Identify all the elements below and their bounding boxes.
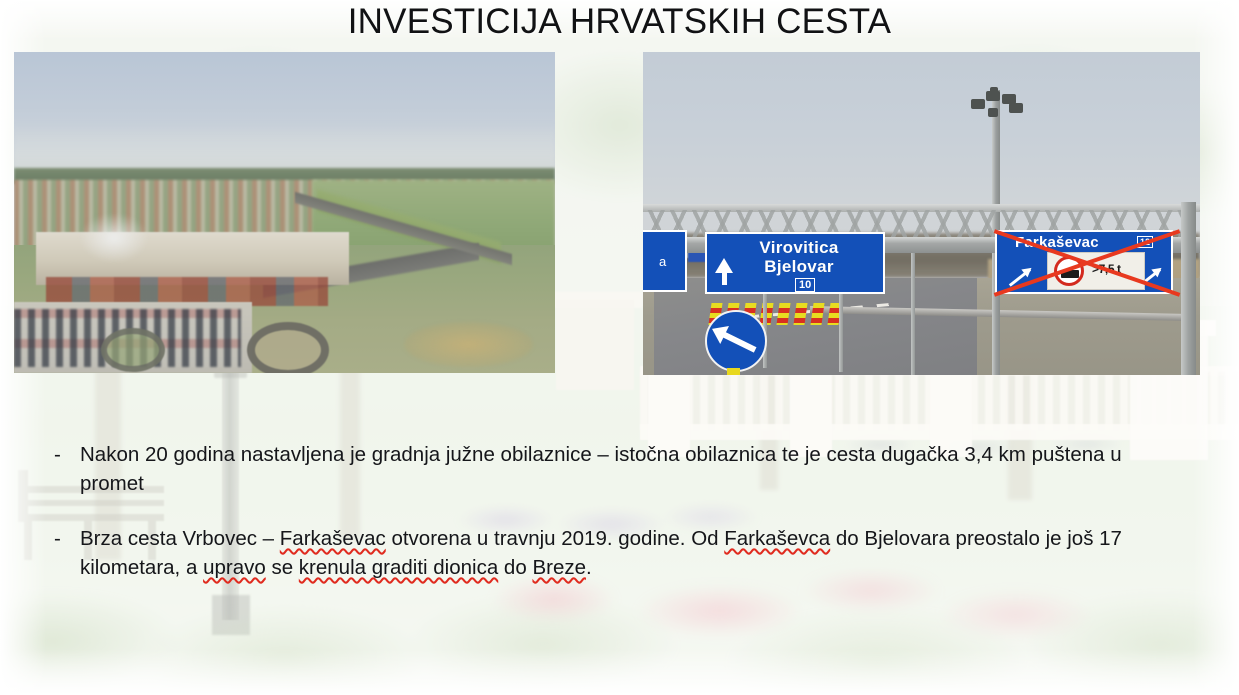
- photo-warehouse-roofs: [46, 277, 327, 306]
- up-arrow-stem-icon: [722, 271, 727, 285]
- slide-body-text: - Nakon 20 godina nastavljena je gradnja…: [42, 440, 1182, 608]
- spellcheck-word: krenula graditi dionica: [299, 556, 498, 579]
- bullet-marker: -: [42, 440, 80, 469]
- presentation-slide: INVESTICIJA HRVATSKIH CESTA: [0, 0, 1239, 695]
- spellcheck-word: Farkaševac: [280, 527, 386, 550]
- road-sign-virovitica-bjelovar: Virovitica Bjelovar 10: [705, 232, 885, 294]
- text-part: se: [266, 556, 299, 579]
- bullet-item-2: - Brza cesta Vrbovec – Farkaševac otvore…: [42, 524, 1182, 582]
- photo-earthworks: [404, 322, 534, 367]
- text-part: .: [586, 556, 592, 579]
- sign-line-virovitica: Virovitica: [721, 238, 877, 257]
- floodlight-lamp-cluster: [971, 87, 1023, 117]
- aerial-photo-bypass-construction: [14, 52, 555, 373]
- red-cross-out-marking: [995, 230, 1173, 294]
- photo-roundabout: [101, 328, 165, 372]
- photo-street-lamp: [911, 238, 915, 375]
- bullet-marker: -: [42, 524, 80, 553]
- bullet-text-2: Brza cesta Vrbovec – Farkaševac otvorena…: [80, 524, 1182, 582]
- sign-line-bjelovar: Bjelovar: [721, 257, 877, 276]
- spellcheck-word: upravo: [203, 556, 266, 579]
- mandatory-direction-sign: [705, 310, 767, 372]
- road-sign-partial: a: [643, 230, 687, 292]
- arrow-down-left-icon: [722, 331, 757, 352]
- photo-roundabout: [247, 322, 329, 373]
- sign-post-striped: [727, 368, 740, 375]
- photo-smoke-plume: [79, 213, 149, 263]
- route-number-badge: 10: [795, 278, 815, 292]
- spellcheck-word: Breze: [532, 556, 586, 579]
- spellcheck-word: Farkaševca: [724, 527, 830, 550]
- text-part: do: [498, 556, 532, 579]
- text-part: Brza cesta Vrbovec –: [80, 527, 280, 550]
- gantry-support-post: [1181, 202, 1196, 375]
- bullet-text-1: Nakon 20 godina nastavljena je gradnja j…: [80, 440, 1182, 498]
- motorway-gantry-signs-photo: a Virovitica Bjelovar 10 Farkaševac 12 >…: [643, 52, 1200, 375]
- bullet-item-1: - Nakon 20 godina nastavljena je gradnja…: [42, 440, 1182, 498]
- text-part: otvorena u travnju 2019. godine. Od: [386, 527, 724, 550]
- page-title: INVESTICIJA HRVATSKIH CESTA: [0, 2, 1239, 42]
